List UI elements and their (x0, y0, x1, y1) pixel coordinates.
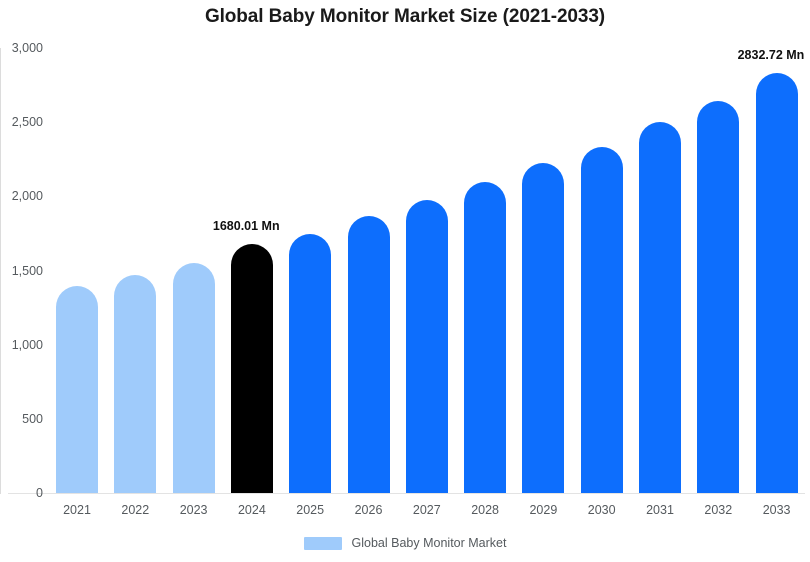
data-label-2024: 1680.01 Mn (213, 219, 280, 233)
data-label-2033: 2832.72 Mn (738, 48, 805, 62)
bar-2029[interactable] (522, 163, 564, 493)
x-axis-tick-2030: 2030 (581, 503, 623, 517)
x-axis-tick-2033: 2033 (756, 503, 798, 517)
x-axis-tick-2022: 2022 (114, 503, 156, 517)
bar-2028[interactable] (464, 182, 506, 494)
bar-chart: Global Baby Monitor Market Size (2021-20… (0, 0, 810, 562)
x-axis-tick-2032: 2032 (697, 503, 739, 517)
legend-label-global-baby-monitor-market: Global Baby Monitor Market (352, 536, 507, 550)
bar-2023[interactable] (173, 263, 215, 493)
bar-2031[interactable] (639, 122, 681, 493)
bar-2032[interactable] (697, 101, 739, 493)
bar-2022[interactable] (114, 275, 156, 493)
bar-2033[interactable] (756, 73, 798, 493)
bar-2027[interactable] (406, 200, 448, 493)
x-axis-tick-2026: 2026 (348, 503, 390, 517)
x-axis-tick-2024: 2024 (231, 503, 273, 517)
bar-2030[interactable] (581, 147, 623, 493)
bar-2024[interactable] (231, 244, 273, 493)
legend-swatch-global-baby-monitor-market (304, 537, 342, 550)
bar-2021[interactable] (56, 286, 98, 493)
bar-2026[interactable] (348, 216, 390, 493)
x-axis-tick-2025: 2025 (289, 503, 331, 517)
chart-legend: Global Baby Monitor Market (0, 536, 810, 550)
x-axis-tick-2021: 2021 (56, 503, 98, 517)
x-axis-tick-2027: 2027 (406, 503, 448, 517)
x-axis-tick-2023: 2023 (173, 503, 215, 517)
bar-2025[interactable] (289, 234, 331, 493)
x-axis-tick-2029: 2029 (522, 503, 564, 517)
x-axis-tick-2028: 2028 (464, 503, 506, 517)
bars-layer: 2021202220232024202520262027202820292030… (0, 0, 810, 562)
x-axis-tick-2031: 2031 (639, 503, 681, 517)
